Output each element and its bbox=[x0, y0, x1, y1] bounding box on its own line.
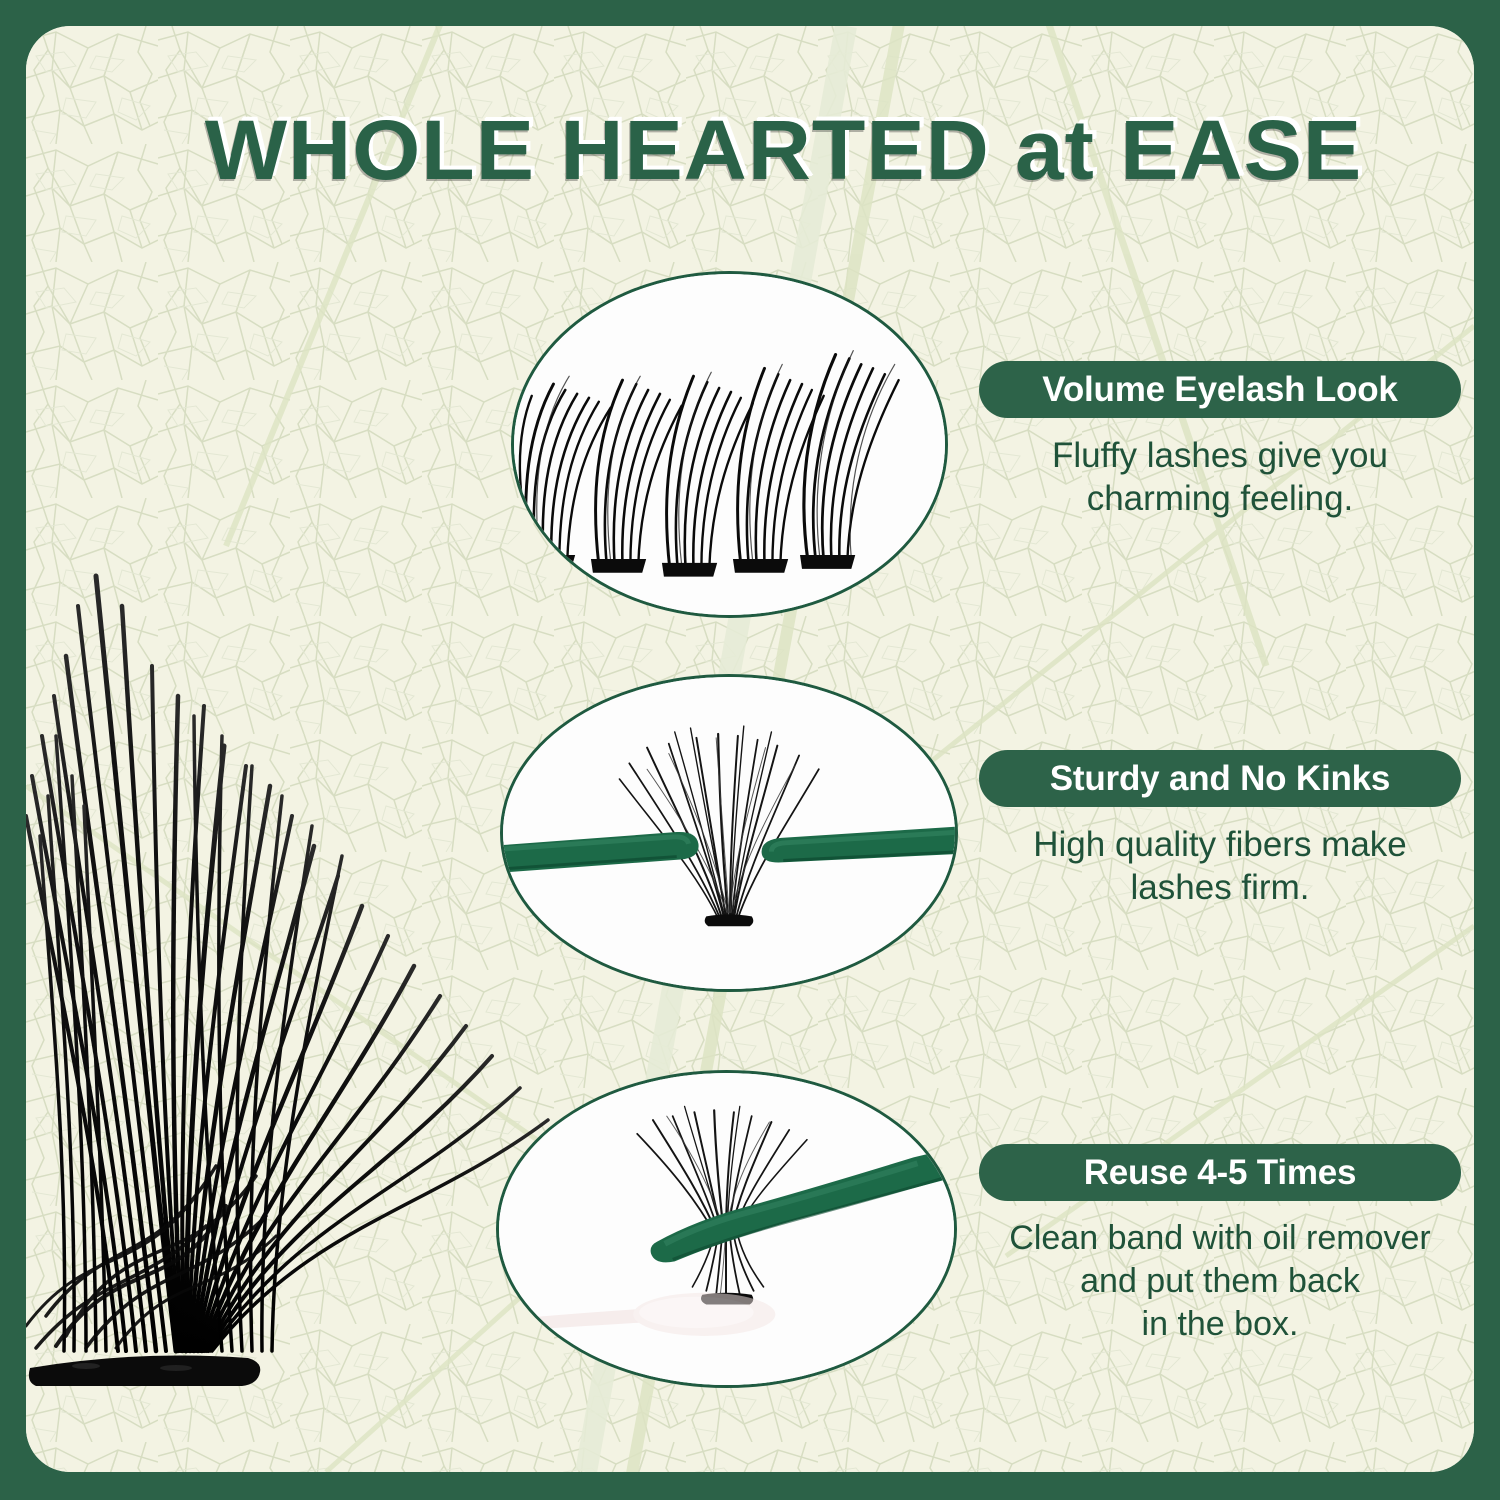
feature-block-volume-eyelash-look: Volume Eyelash Look Fluffy lashes give y… bbox=[979, 361, 1461, 520]
volume-lash-cluster-row-illustration bbox=[514, 274, 945, 615]
feature-block-sturdy-and-no-kinks: Sturdy and No Kinks High quality fibers … bbox=[979, 750, 1461, 909]
feature-badge-volume-eyelash-look: Volume Eyelash Look bbox=[979, 361, 1461, 418]
poster-root: WHOLE HEARTED at EASE bbox=[0, 0, 1500, 1500]
feature-image-reuse-lash bbox=[496, 1070, 957, 1388]
content-panel: WHOLE HEARTED at EASE bbox=[26, 26, 1474, 1472]
feature-image-volume-lash bbox=[511, 271, 948, 618]
lash-band bbox=[29, 1356, 260, 1386]
feature-block-reuse-4-5-times: Reuse 4-5 Times Clean band with oil remo… bbox=[979, 1144, 1461, 1346]
feature-description-sturdy-and-no-kinks: High quality fibers make lashes firm. bbox=[979, 823, 1461, 909]
feature-image-sturdy-lash bbox=[500, 674, 958, 992]
feature-badge-reuse-4-5-times: Reuse 4-5 Times bbox=[979, 1144, 1461, 1201]
page-title: WHOLE HEARTED at EASE bbox=[58, 104, 1474, 196]
feature-badge-sturdy-and-no-kinks: Sturdy and No Kinks bbox=[979, 750, 1461, 807]
tweezers-pulling-lash-cluster-illustration bbox=[503, 677, 955, 989]
feature-description-volume-eyelash-look: Fluffy lashes give you charming feeling. bbox=[979, 434, 1461, 520]
tweezers-holding-lash-with-cotton-swab-illustration bbox=[499, 1073, 954, 1385]
feature-description-reuse-4-5-times: Clean band with oil remover and put them… bbox=[979, 1217, 1461, 1346]
